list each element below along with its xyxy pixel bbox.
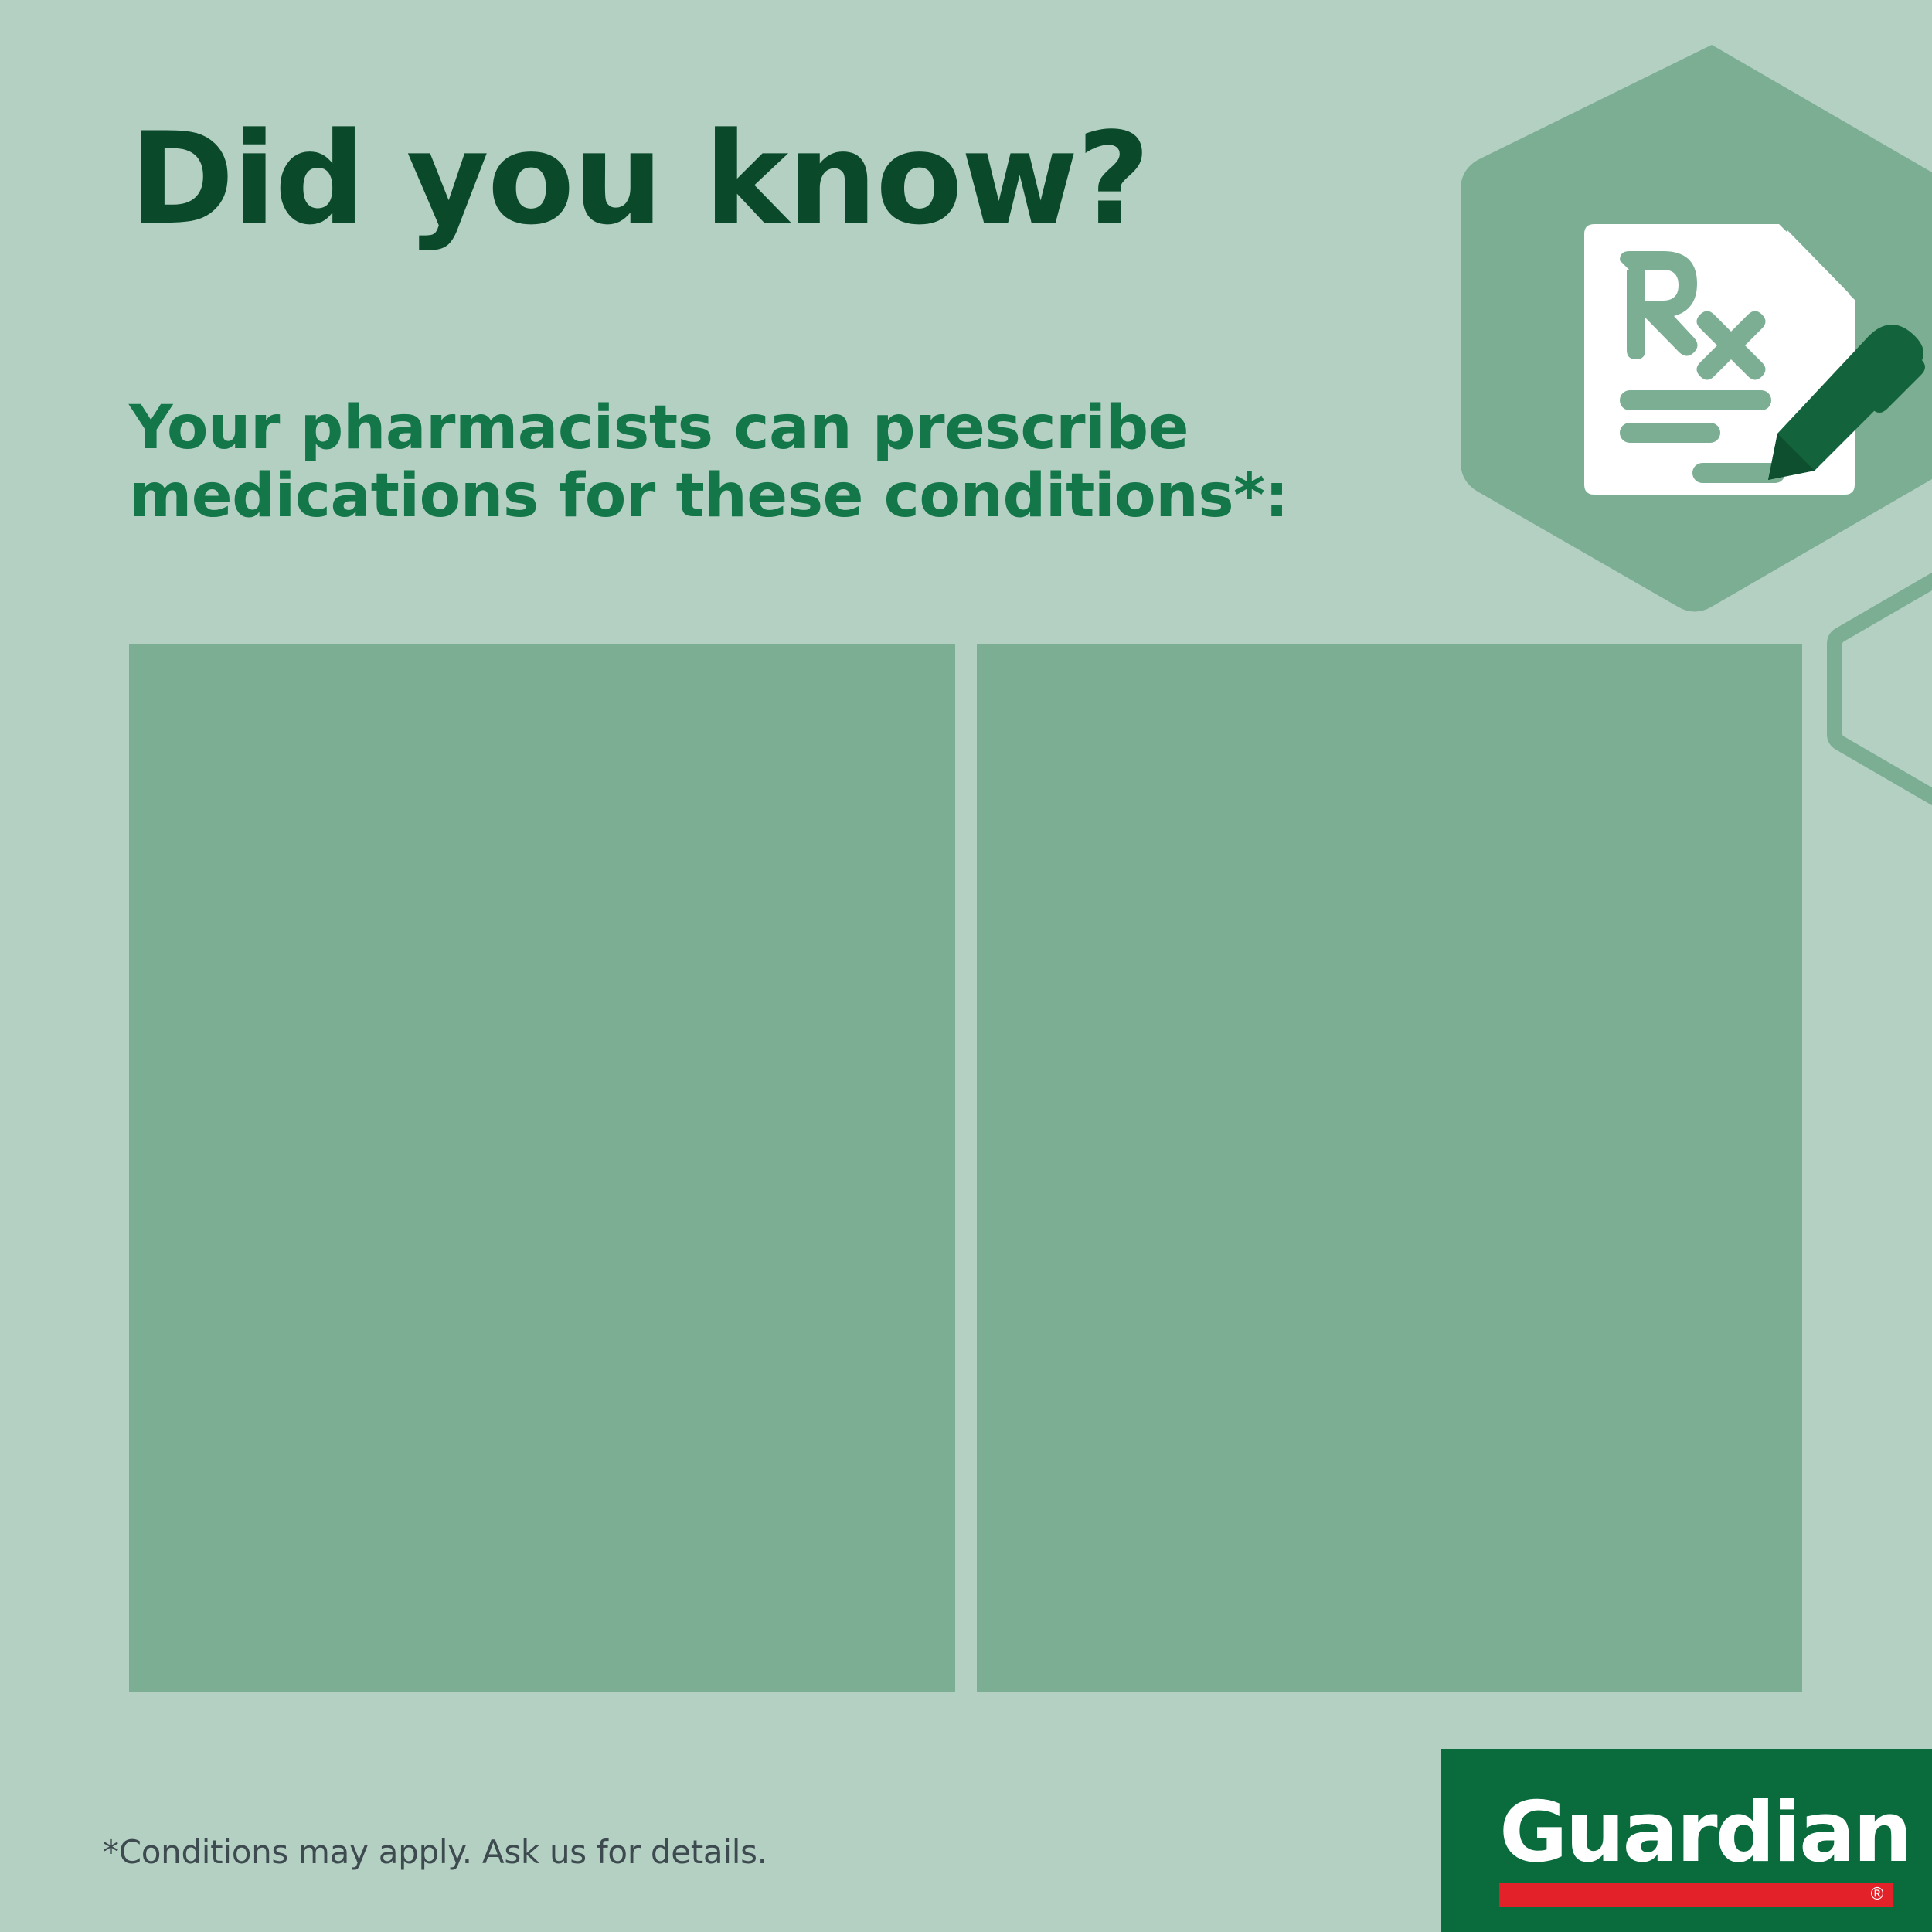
page-subtitle: Your pharmacists can prescribe medicatio…	[129, 394, 1288, 530]
guardian-logo: Guardian ®	[1441, 1749, 1932, 1932]
conditions-panels	[129, 644, 1802, 1692]
footnote-disclaimer: *Conditions may apply. Ask us for detail…	[103, 1833, 767, 1872]
poster-canvas: Did you know? Your pharmacists can presc…	[0, 0, 1932, 1932]
conditions-panel-left	[129, 644, 955, 1692]
hexagon-outline-icon	[1835, 568, 1932, 810]
prescription-icon	[1468, 89, 1932, 568]
guardian-logo-inner: Guardian ®	[1499, 1794, 1893, 1907]
document-fold-icon	[1787, 230, 1850, 294]
headline-block: Did you know? Your pharmacists can presc…	[129, 116, 1366, 243]
subtitle-line-1: Your pharmacists can prescribe	[129, 394, 1288, 462]
guardian-red-bar: ®	[1499, 1883, 1893, 1907]
conditions-panel-right	[977, 644, 1802, 1692]
guardian-wordmark: Guardian	[1499, 1794, 1893, 1873]
document-line-1	[1620, 390, 1771, 410]
registered-trademark-icon: ®	[1869, 1886, 1886, 1903]
document-line-2	[1620, 423, 1720, 443]
page-title: Did you know?	[129, 116, 1366, 243]
subtitle-line-2: medications for these conditions*:	[129, 462, 1288, 530]
